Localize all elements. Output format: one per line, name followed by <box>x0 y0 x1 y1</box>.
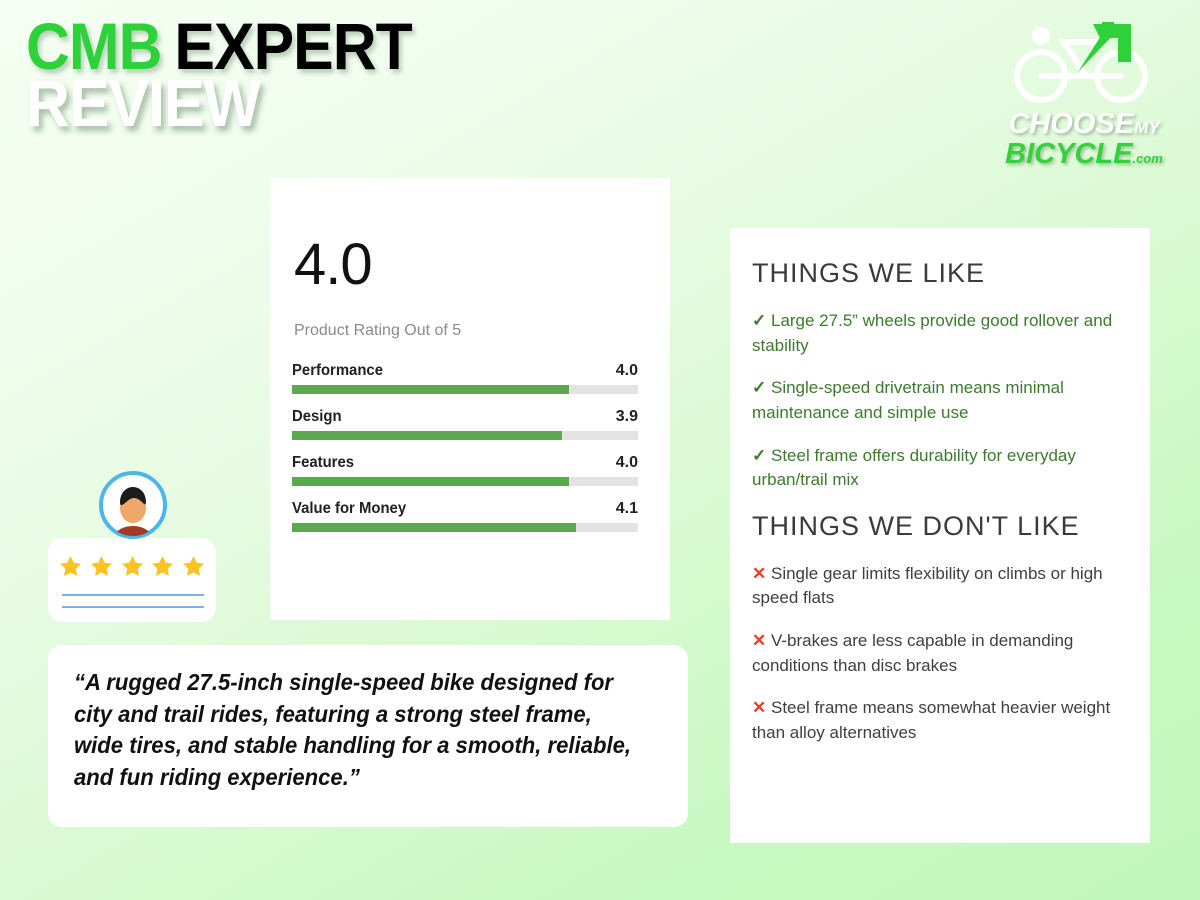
star-icon <box>58 554 83 579</box>
cons-item-text: Single gear limits flexibility on climbs… <box>752 564 1103 608</box>
cons-item-text: V-brakes are less capable in demanding c… <box>752 631 1073 675</box>
metric-value: 4.0 <box>616 362 638 380</box>
metric-value: 4.0 <box>616 454 638 472</box>
metric-bar-track <box>292 523 638 532</box>
summary-quote-text: “A rugged 27.5-inch single-speed bike de… <box>74 667 638 794</box>
pros-item: ✓ Large 27.5” wheels provide good rollov… <box>752 309 1124 358</box>
illustration-text-line <box>62 594 204 596</box>
user-review-illustration <box>48 470 220 622</box>
logo-word-bicycle-com: BICYCLE.com <box>994 139 1174 169</box>
illustration-text-line <box>62 606 204 608</box>
logo-dotcom: .com <box>1132 151 1162 166</box>
metric-row: Design 3.9 <box>292 408 638 440</box>
check-icon: ✓ <box>752 378 766 397</box>
pros-item-text: Steel frame offers durability for everyd… <box>752 446 1076 490</box>
cons-item: ✕ Single gear limits flexibility on clim… <box>752 562 1124 611</box>
pros-cons-card: THINGS WE LIKE ✓ Large 27.5” wheels prov… <box>730 228 1150 843</box>
pros-section: THINGS WE LIKE ✓ Large 27.5” wheels prov… <box>752 258 1124 493</box>
check-icon: ✓ <box>752 311 766 330</box>
pros-item-text: Single-speed drivetrain means minimal ma… <box>752 378 1064 422</box>
pros-item-text: Large 27.5” wheels provide good rollover… <box>752 311 1112 355</box>
avatar <box>98 470 168 540</box>
review-infographic: CMBEXPERT REVIEW CHOOSEMY BICYCLE.com 4.… <box>0 0 1200 900</box>
cons-item: ✕ Steel frame means somewhat heavier wei… <box>752 696 1124 745</box>
cons-item: ✕ V-brakes are less capable in demanding… <box>752 629 1124 678</box>
title-review: REVIEW <box>26 75 412 132</box>
pros-item: ✓ Steel frame offers durability for ever… <box>752 444 1124 493</box>
metric-bar-fill <box>292 431 562 440</box>
star-icon <box>181 554 206 579</box>
star-icon <box>150 554 175 579</box>
illustration-card <box>48 538 216 622</box>
overall-score: 4.0 <box>294 236 638 294</box>
pros-item: ✓ Single-speed drivetrain means minimal … <box>752 376 1124 425</box>
summary-quote-card: “A rugged 27.5-inch single-speed bike de… <box>48 645 688 827</box>
check-icon: ✓ <box>752 446 766 465</box>
metric-bar-track <box>292 477 638 486</box>
cons-section: THINGS WE DON'T LIKE ✕ Single gear limit… <box>752 511 1124 746</box>
star-icon <box>120 554 145 579</box>
metric-bar-track <box>292 431 638 440</box>
page-title: CMBEXPERT REVIEW <box>26 18 445 132</box>
illustration-stars <box>58 554 206 579</box>
metric-label: Features <box>292 454 354 472</box>
metric-row: Value for Money 4.1 <box>292 500 638 532</box>
cons-heading: THINGS WE DON'T LIKE <box>752 511 1124 542</box>
rating-caption: Product Rating Out of 5 <box>294 322 638 340</box>
metric-value: 3.9 <box>616 408 638 426</box>
metric-row: Features 4.0 <box>292 454 638 486</box>
bicycle-arrow-icon <box>994 14 1174 110</box>
choosemybicycle-logo: CHOOSEMY BICYCLE.com <box>994 14 1174 174</box>
logo-word-choose-my: CHOOSEMY <box>994 110 1174 139</box>
metric-row: Performance 4.0 <box>292 362 638 394</box>
rating-card: 4.0 Product Rating Out of 5 Performance … <box>270 178 670 620</box>
metric-bar-track <box>292 385 638 394</box>
logo-choose: CHOOSE <box>1008 108 1134 140</box>
metric-bar-fill <box>292 477 569 486</box>
metric-bar-fill <box>292 385 569 394</box>
logo-bicycle: BICYCLE <box>1005 138 1132 170</box>
cross-icon: ✕ <box>752 631 766 650</box>
cross-icon: ✕ <box>752 564 766 583</box>
logo-my: MY <box>1134 118 1160 137</box>
star-icon <box>89 554 114 579</box>
cross-icon: ✕ <box>752 698 766 717</box>
metric-value: 4.1 <box>616 500 638 518</box>
metric-label: Value for Money <box>292 500 406 518</box>
cons-item-text: Steel frame means somewhat heavier weigh… <box>752 698 1110 742</box>
pros-heading: THINGS WE LIKE <box>752 258 1124 289</box>
metric-label: Design <box>292 408 342 426</box>
metric-label: Performance <box>292 362 383 380</box>
metric-bar-fill <box>292 523 576 532</box>
